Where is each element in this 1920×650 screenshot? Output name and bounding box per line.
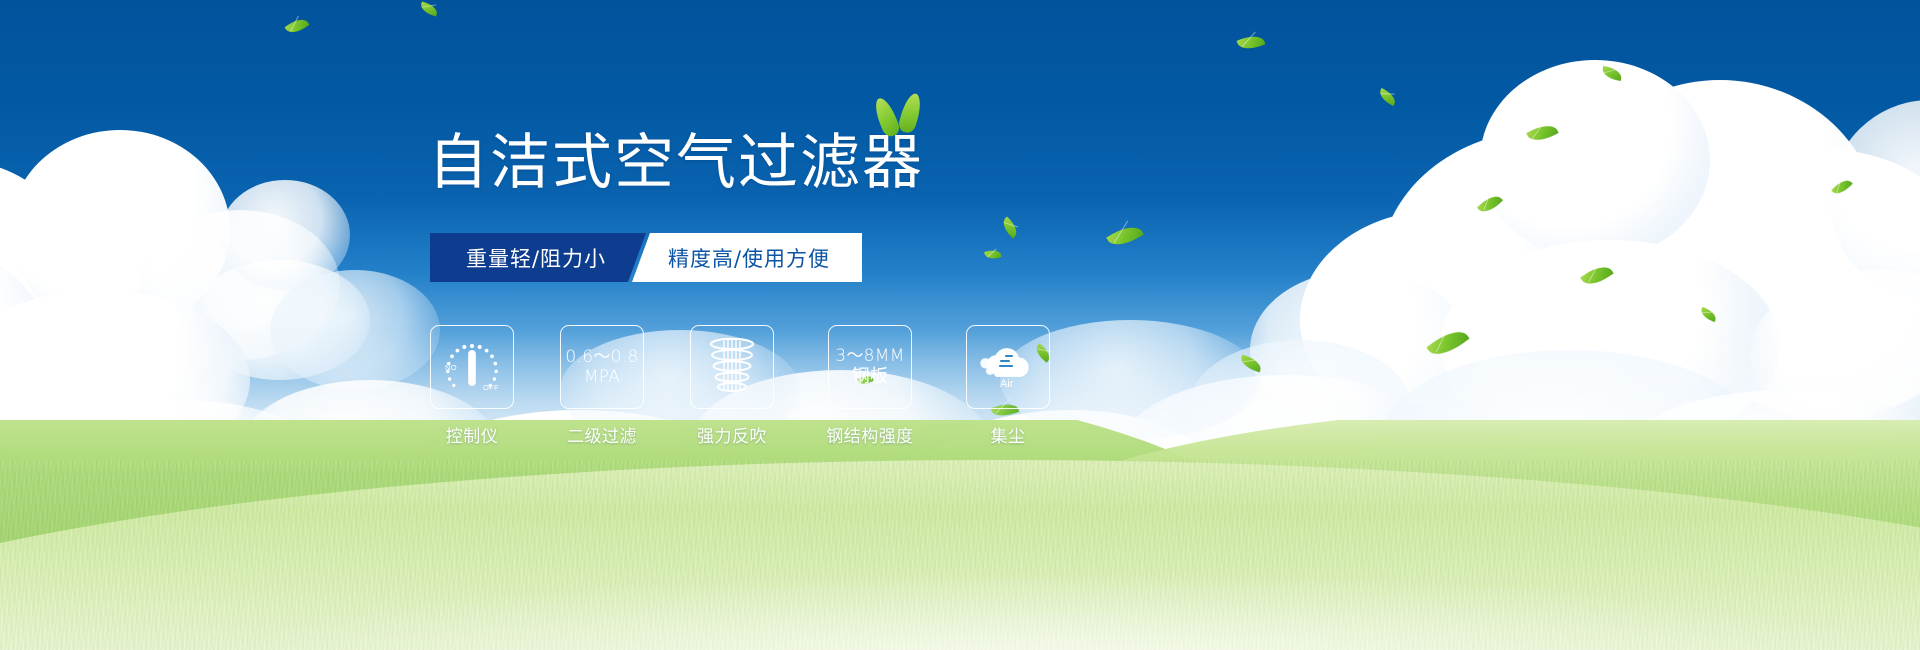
feature-item: 强力反吹 [690,325,774,447]
svg-text:OFF: OFF [483,383,499,392]
feature-item: Air 集尘 [966,325,1050,447]
feature-icon-box [690,325,774,409]
title-block: 自洁式空气过滤器 [428,133,924,193]
feature-label: 钢结构强度 [826,422,914,447]
feature-icon-box: 3～8MM 钢板 [828,325,912,409]
subtitle-pill-primary: 重量轻/阻力小 [430,233,646,282]
air-cloud-icon: Air [976,344,1040,390]
subtitle-pill-secondary: 精度高/使用方便 [632,233,862,282]
steel-plate-text-icon: 3～8MM [835,346,904,366]
page-title: 自洁式空气过滤器 [428,133,924,193]
feature-item: 3～8MM 钢板 钢结构强度 [820,325,920,447]
title-leaf-decoration [868,93,930,139]
pressure-text-icon: 0.6～0.8 [565,347,638,367]
feature-label: 集尘 [991,422,1026,447]
svg-text:Air: Air [1000,378,1014,390]
filter-coil-icon [703,336,761,398]
gauge-dial-icon: NO OFF [440,338,504,396]
pressure-unit-text: MPA [584,367,620,387]
banner-content: 自洁式空气过滤器 重量轻/阻力小 精度高/使用方便 [0,0,1920,650]
subtitle-pill-secondary-label: 精度高/使用方便 [668,243,830,273]
leaf-icon [897,91,924,134]
subtitle-pill-row: 重量轻/阻力小 精度高/使用方便 [430,233,862,282]
leaf-icon [871,95,902,138]
feature-icon-row: NO OFF 控制仪 0.6～0.8 MPA 二级过滤 [430,325,1050,447]
feature-label: 强力反吹 [697,422,767,447]
feature-label: 控制仪 [446,422,499,447]
feature-icon-box: Air [966,325,1050,409]
feature-item: NO OFF 控制仪 [430,325,514,447]
feature-icon-box: 0.6～0.8 MPA [560,325,644,409]
feature-item: 0.6～0.8 MPA 二级过滤 [560,325,644,447]
steel-plate-unit-text: 钢板 [852,366,889,387]
feature-label: 二级过滤 [567,422,637,447]
hero-banner: 自洁式空气过滤器 重量轻/阻力小 精度高/使用方便 [0,0,1920,650]
subtitle-pill-primary-label: 重量轻/阻力小 [466,243,606,273]
svg-text:NO: NO [445,363,457,372]
feature-icon-box: NO OFF [430,325,514,409]
